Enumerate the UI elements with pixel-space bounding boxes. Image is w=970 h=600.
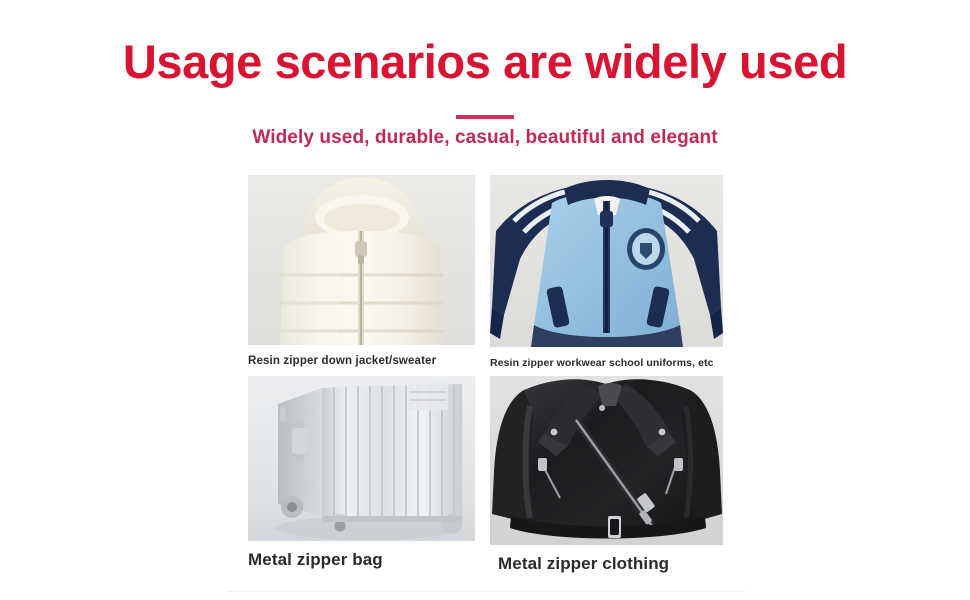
gallery-item-caption: Metal zipper clothing: [490, 545, 723, 574]
leather-jacket-photo[interactable]: [490, 376, 723, 545]
gallery-row: Metal zipper bag: [248, 367, 723, 572]
page-subtitle: Widely used, durable, casual, beautiful …: [0, 126, 970, 150]
school-uniform-photo[interactable]: [490, 175, 723, 347]
page-root: Usage scenarios are widely used Widely u…: [0, 0, 970, 600]
divider-dash-icon: [456, 115, 514, 119]
gallery-row: Resin zipper down jacket/sweater: [248, 175, 723, 367]
header: Usage scenarios are widely used Widely u…: [0, 34, 970, 150]
luggage-photo[interactable]: [248, 376, 475, 541]
title-divider: [0, 106, 970, 114]
gallery-item-resin-down-jacket[interactable]: Resin zipper down jacket/sweater: [248, 175, 475, 367]
gallery-item-metal-zipper-clothing[interactable]: Metal zipper clothing: [490, 367, 723, 572]
gallery-item-resin-school-uniform[interactable]: Resin zipper workwear school uniforms, e…: [490, 175, 723, 367]
footer-divider: [228, 591, 746, 592]
scenario-gallery: Resin zipper down jacket/sweater: [248, 175, 723, 572]
down-jacket-photo[interactable]: [248, 175, 475, 345]
gallery-item-caption: Resin zipper down jacket/sweater: [248, 345, 475, 368]
gallery-item-metal-zipper-bag[interactable]: Metal zipper bag: [248, 367, 475, 572]
gallery-item-caption: Metal zipper bag: [248, 541, 475, 570]
page-title: Usage scenarios are widely used: [0, 34, 970, 90]
